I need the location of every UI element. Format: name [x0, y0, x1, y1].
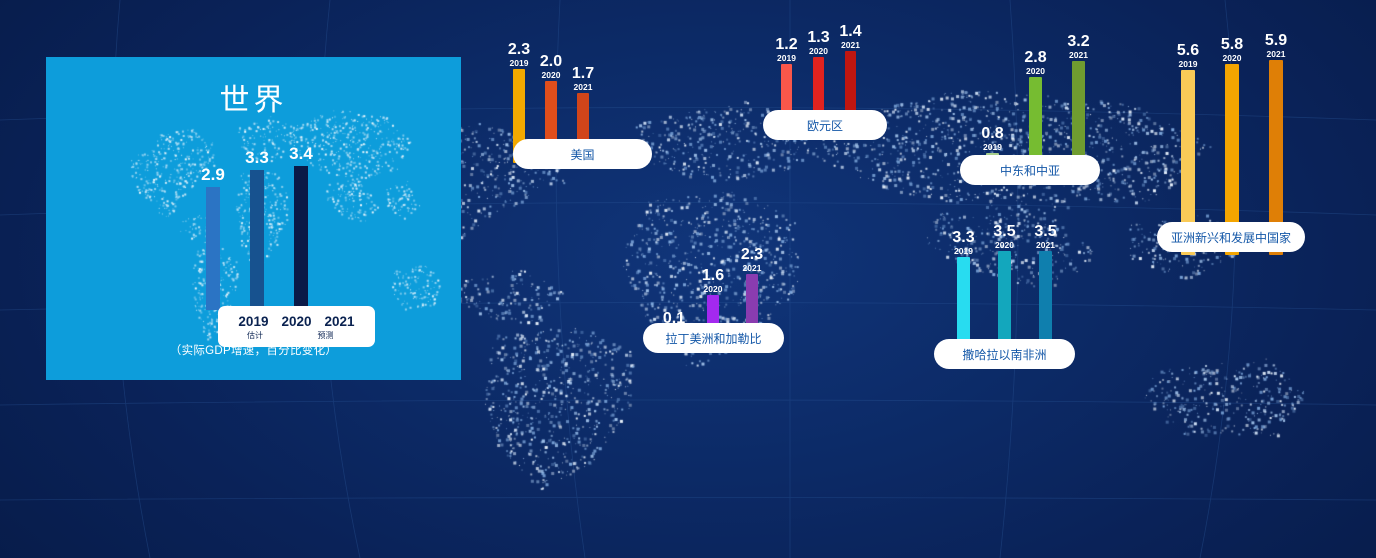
region-label-euro[interactable]: 欧元区 [763, 110, 887, 140]
bar-value-us-2021: 1.7 [572, 65, 594, 82]
bar-year-mideast-2020: 2020 [1024, 66, 1046, 76]
bar-year-africa-2021: 2021 [1034, 240, 1056, 250]
bar-value-asia-2021: 5.9 [1265, 32, 1287, 49]
legend-estimate-label: 估计 [229, 330, 281, 341]
region-label-asia[interactable]: 亚洲新兴和发展中国家 [1157, 222, 1305, 252]
bar-year-euro-2019: 2019 [775, 53, 797, 63]
bar-year-latam-2021: 2021 [741, 263, 763, 273]
bar-value-africa-2020: 3.5 [993, 223, 1015, 240]
world-chart-legend: 2019 2020 2021 估计 预测 [218, 306, 375, 347]
bar-label-asia-2019: 5.62019 [1177, 42, 1199, 69]
bar-value-us-2020: 2.0 [540, 53, 562, 70]
bar-year-asia-2020: 2020 [1221, 53, 1243, 63]
chart-caption: （实际GDP增速，百分比变化） [46, 342, 461, 358]
bar-label-latam-2021: 2.32021 [741, 246, 763, 273]
region-label-mideast[interactable]: 中东和中亚 [960, 155, 1100, 185]
bar-label-euro-2019: 1.22019 [775, 36, 797, 63]
bar-value-mideast-2020: 2.8 [1024, 49, 1046, 66]
legend-year-2021: 2021 [325, 314, 355, 329]
legend-year-2020: 2020 [281, 314, 311, 329]
bar-value-mideast-2019: 0.8 [981, 125, 1003, 142]
bar-label-euro-2021: 1.42021 [839, 23, 861, 50]
bar-value-euro-2021: 1.4 [839, 23, 861, 40]
bar-label-africa-2021: 3.52021 [1034, 223, 1056, 250]
region-label-us[interactable]: 美国 [513, 139, 652, 169]
legend-forecast-label: 预测 [281, 330, 364, 341]
bar-value-asia-2019: 5.6 [1177, 42, 1199, 59]
bar-year-euro-2020: 2020 [807, 46, 829, 56]
bar-label-mideast-2019: 0.82019 [981, 125, 1003, 152]
bar-year-asia-2019: 2019 [1177, 59, 1199, 69]
legend-years: 2019 2020 2021 [238, 314, 354, 329]
bar-year-latam-2020: 2020 [702, 284, 724, 294]
bar-label-euro-2020: 1.32020 [807, 29, 829, 56]
bar-asia-2020: 5.82020 [1225, 254, 1239, 255]
bar-year-us-2021: 2021 [572, 82, 594, 92]
world-bar-value-2019: 2.9 [201, 165, 225, 185]
bar-label-africa-2019: 3.32019 [952, 229, 974, 256]
world-bar-rect-2021 [294, 166, 308, 310]
bar-value-latam-2020: 1.6 [702, 267, 724, 284]
bar-label-us-2019: 2.32019 [508, 41, 530, 68]
bar-year-us-2020: 2020 [540, 70, 562, 80]
bar-year-us-2019: 2019 [508, 58, 530, 68]
bar-value-africa-2021: 3.5 [1034, 223, 1056, 240]
bar-year-asia-2021: 2021 [1265, 49, 1287, 59]
legend-subtitles: 估计 预测 [218, 330, 375, 341]
bar-label-africa-2020: 3.52020 [993, 223, 1015, 250]
bar-year-euro-2021: 2021 [839, 40, 861, 50]
bar-value-africa-2019: 3.3 [952, 229, 974, 246]
bar-value-latam-2021: 2.3 [741, 246, 763, 263]
bar-asia-2021: 5.92021 [1269, 254, 1283, 255]
world-bar-rect-2019 [206, 187, 220, 310]
bar-value-mideast-2021: 3.2 [1067, 33, 1089, 50]
bar-value-euro-2019: 1.2 [775, 36, 797, 53]
world-bar-rect-2020 [250, 170, 264, 310]
bar-label-latam-2020: 1.62020 [702, 267, 724, 294]
bar-label-us-2021: 1.72021 [572, 65, 594, 92]
bar-label-us-2020: 2.02020 [540, 53, 562, 80]
bar-asia-2019: 5.62019 [1181, 254, 1195, 255]
bar-year-mideast-2019: 2019 [981, 142, 1003, 152]
bar-year-africa-2019: 2019 [952, 246, 974, 256]
bar-year-mideast-2021: 2021 [1067, 50, 1089, 60]
legend-year-2019: 2019 [238, 314, 268, 329]
world-bar-value-2020: 3.3 [245, 148, 269, 168]
bar-label-mideast-2021: 3.22021 [1067, 33, 1089, 60]
bar-label-asia-2021: 5.92021 [1265, 32, 1287, 59]
bar-value-asia-2020: 5.8 [1221, 36, 1243, 53]
region-label-latam[interactable]: 拉丁美洲和加勒比 [643, 323, 784, 353]
page-title: 世界 [46, 75, 461, 119]
region-label-africa[interactable]: 撒哈拉以南非洲 [934, 339, 1075, 369]
world-bar-chart: 2.93.33.4 [196, 145, 326, 310]
bar-value-euro-2020: 1.3 [807, 29, 829, 46]
world-bar-value-2021: 3.4 [289, 144, 313, 164]
bar-label-asia-2020: 5.82020 [1221, 36, 1243, 63]
bar-label-mideast-2020: 2.82020 [1024, 49, 1046, 76]
bar-year-africa-2020: 2020 [993, 240, 1015, 250]
world-summary-panel: 世界 2.93.33.4 2019 2020 2021 估计 预测 （实际GDP… [46, 57, 461, 380]
bar-value-us-2019: 2.3 [508, 41, 530, 58]
